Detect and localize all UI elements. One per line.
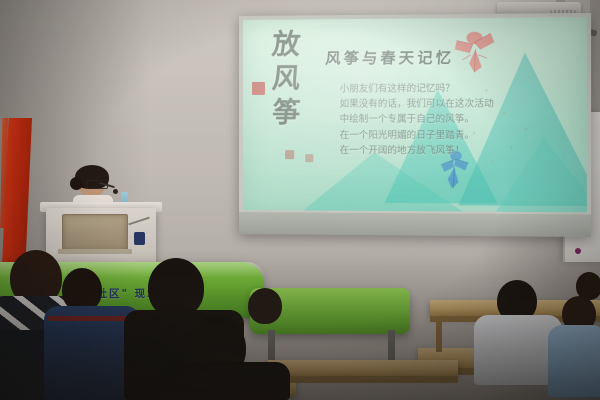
presentation-slide: 放 风 筝 风筝与春天记忆 小朋友们有这样的记忆吗？ 如果没有的话，我们可以在这… (243, 17, 587, 212)
slide-body-text: 小朋友们有这样的记忆吗？ 如果没有的话，我们可以在这次活动 中绘制一个专属于自己… (340, 81, 562, 159)
slide-body-line-3: 中绘制一个专属于自己的风筝。 (340, 112, 562, 128)
headset-microphone-icon (113, 189, 118, 194)
speck (492, 161, 494, 163)
floor-shadow (0, 250, 600, 400)
slide-body-line-1: 小朋友们有这样的记忆吗？ (340, 81, 562, 97)
slide-body-line-5: 在一个开阔的地方放飞风筝！ (340, 143, 562, 159)
red-seal-stamp (252, 82, 265, 95)
classroom-photo: x △ ○ (0, 0, 600, 400)
projection-screen: 放 风 筝 风筝与春天记忆 小朋友们有这样的记忆吗？ 如果没有的话，我们可以在这… (239, 13, 591, 237)
slide-calligraphy-column: 放 风 筝 (255, 27, 317, 130)
screen-bottom-edge (239, 212, 591, 237)
red-seal-stamp-small (285, 150, 294, 159)
red-kite-graphic (451, 28, 505, 81)
slide-body-line-2: 如果没有的话，我们可以在这次活动 (340, 97, 562, 113)
calligraphy-char-1: 放 (254, 27, 319, 62)
red-seal-stamp-small-2 (305, 154, 313, 162)
presenter-hair-bun (70, 177, 83, 190)
slide-body-line-4: 在一个阳光明媚的日子里踏青。 (340, 128, 562, 144)
calligraphy-char-3: 筝 (254, 96, 319, 130)
slide-title: 风筝与春天记忆 (325, 47, 455, 69)
podium-device (134, 232, 145, 245)
open-laptop (62, 214, 128, 252)
